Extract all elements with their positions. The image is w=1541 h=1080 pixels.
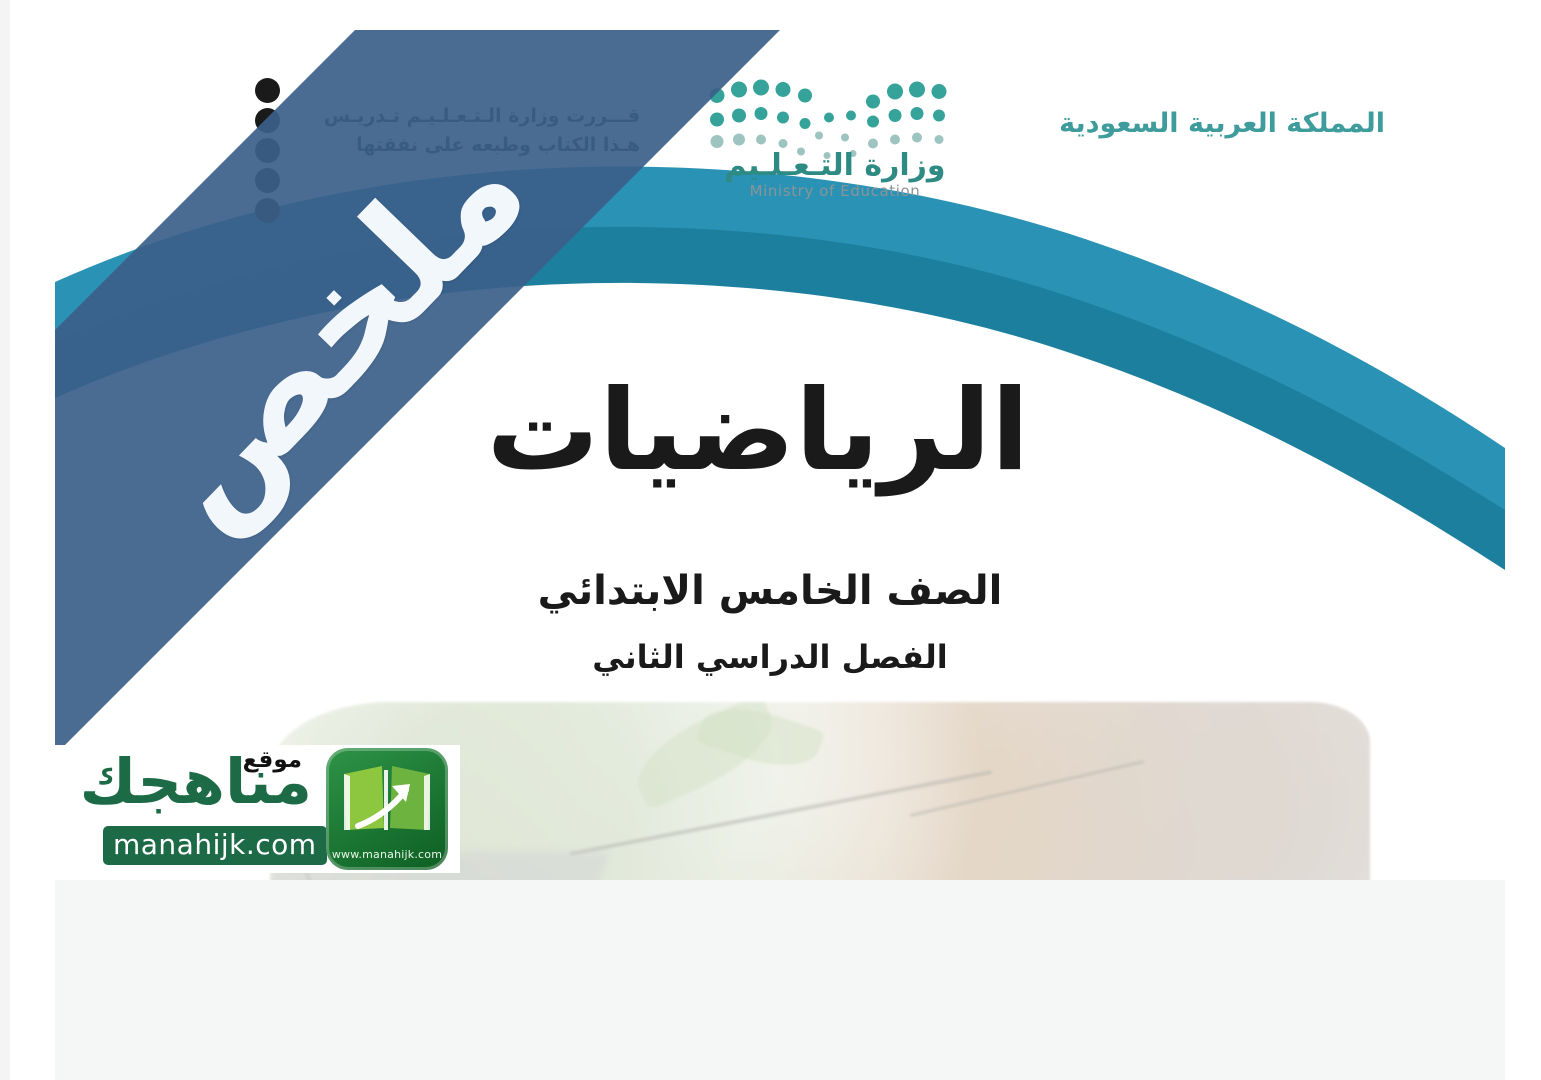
ministry-name-en: Ministry of Education	[700, 182, 970, 200]
photo-twig	[570, 770, 993, 856]
manahijk-badge-url: www.manahijk.com	[326, 848, 448, 861]
photo-twig	[910, 760, 1145, 817]
grade-title: الصف الخامس الابتدائي	[55, 568, 1495, 614]
page-body-panel	[55, 880, 1505, 1080]
approval-dot	[255, 168, 280, 193]
approval-line-1: قـــررت وزارة الـتـعـلـيـم تـدريـس	[250, 102, 640, 131]
approval-dot	[255, 198, 280, 223]
subject-title: الرياضيات	[55, 375, 1483, 487]
manahijk-app-badge: www.manahijk.com	[326, 748, 448, 870]
approval-note: قـــررت وزارة الـتـعـلـيـم تـدريـس هـذا …	[250, 102, 640, 161]
left-gutter	[0, 0, 10, 1080]
approval-line-2: هـذا الكتاب وطبعه على نفقتها	[250, 131, 640, 160]
open-book-arrow-icon	[340, 764, 434, 836]
ministry-name-ar: وزارة التـعـلـيم	[700, 148, 970, 183]
term-title: الفصل الدراسي الثاني	[55, 638, 1495, 676]
manahijk-url-label: manahijk.com	[103, 826, 327, 865]
page-stage: قـــررت وزارة الـتـعـلـيـم تـدريـس هـذا …	[0, 0, 1541, 1080]
kingdom-line: المملكة العربية السعودية	[1059, 108, 1385, 139]
manahijk-mawqi-label: موقع	[243, 747, 302, 773]
manahijk-watermark-logo: مناهجك موقع manahijk.com www.manahijk.co…	[55, 745, 460, 873]
approval-dot	[255, 78, 280, 103]
manahijk-wordmark: مناهجك موقع manahijk.com	[55, 745, 320, 873]
